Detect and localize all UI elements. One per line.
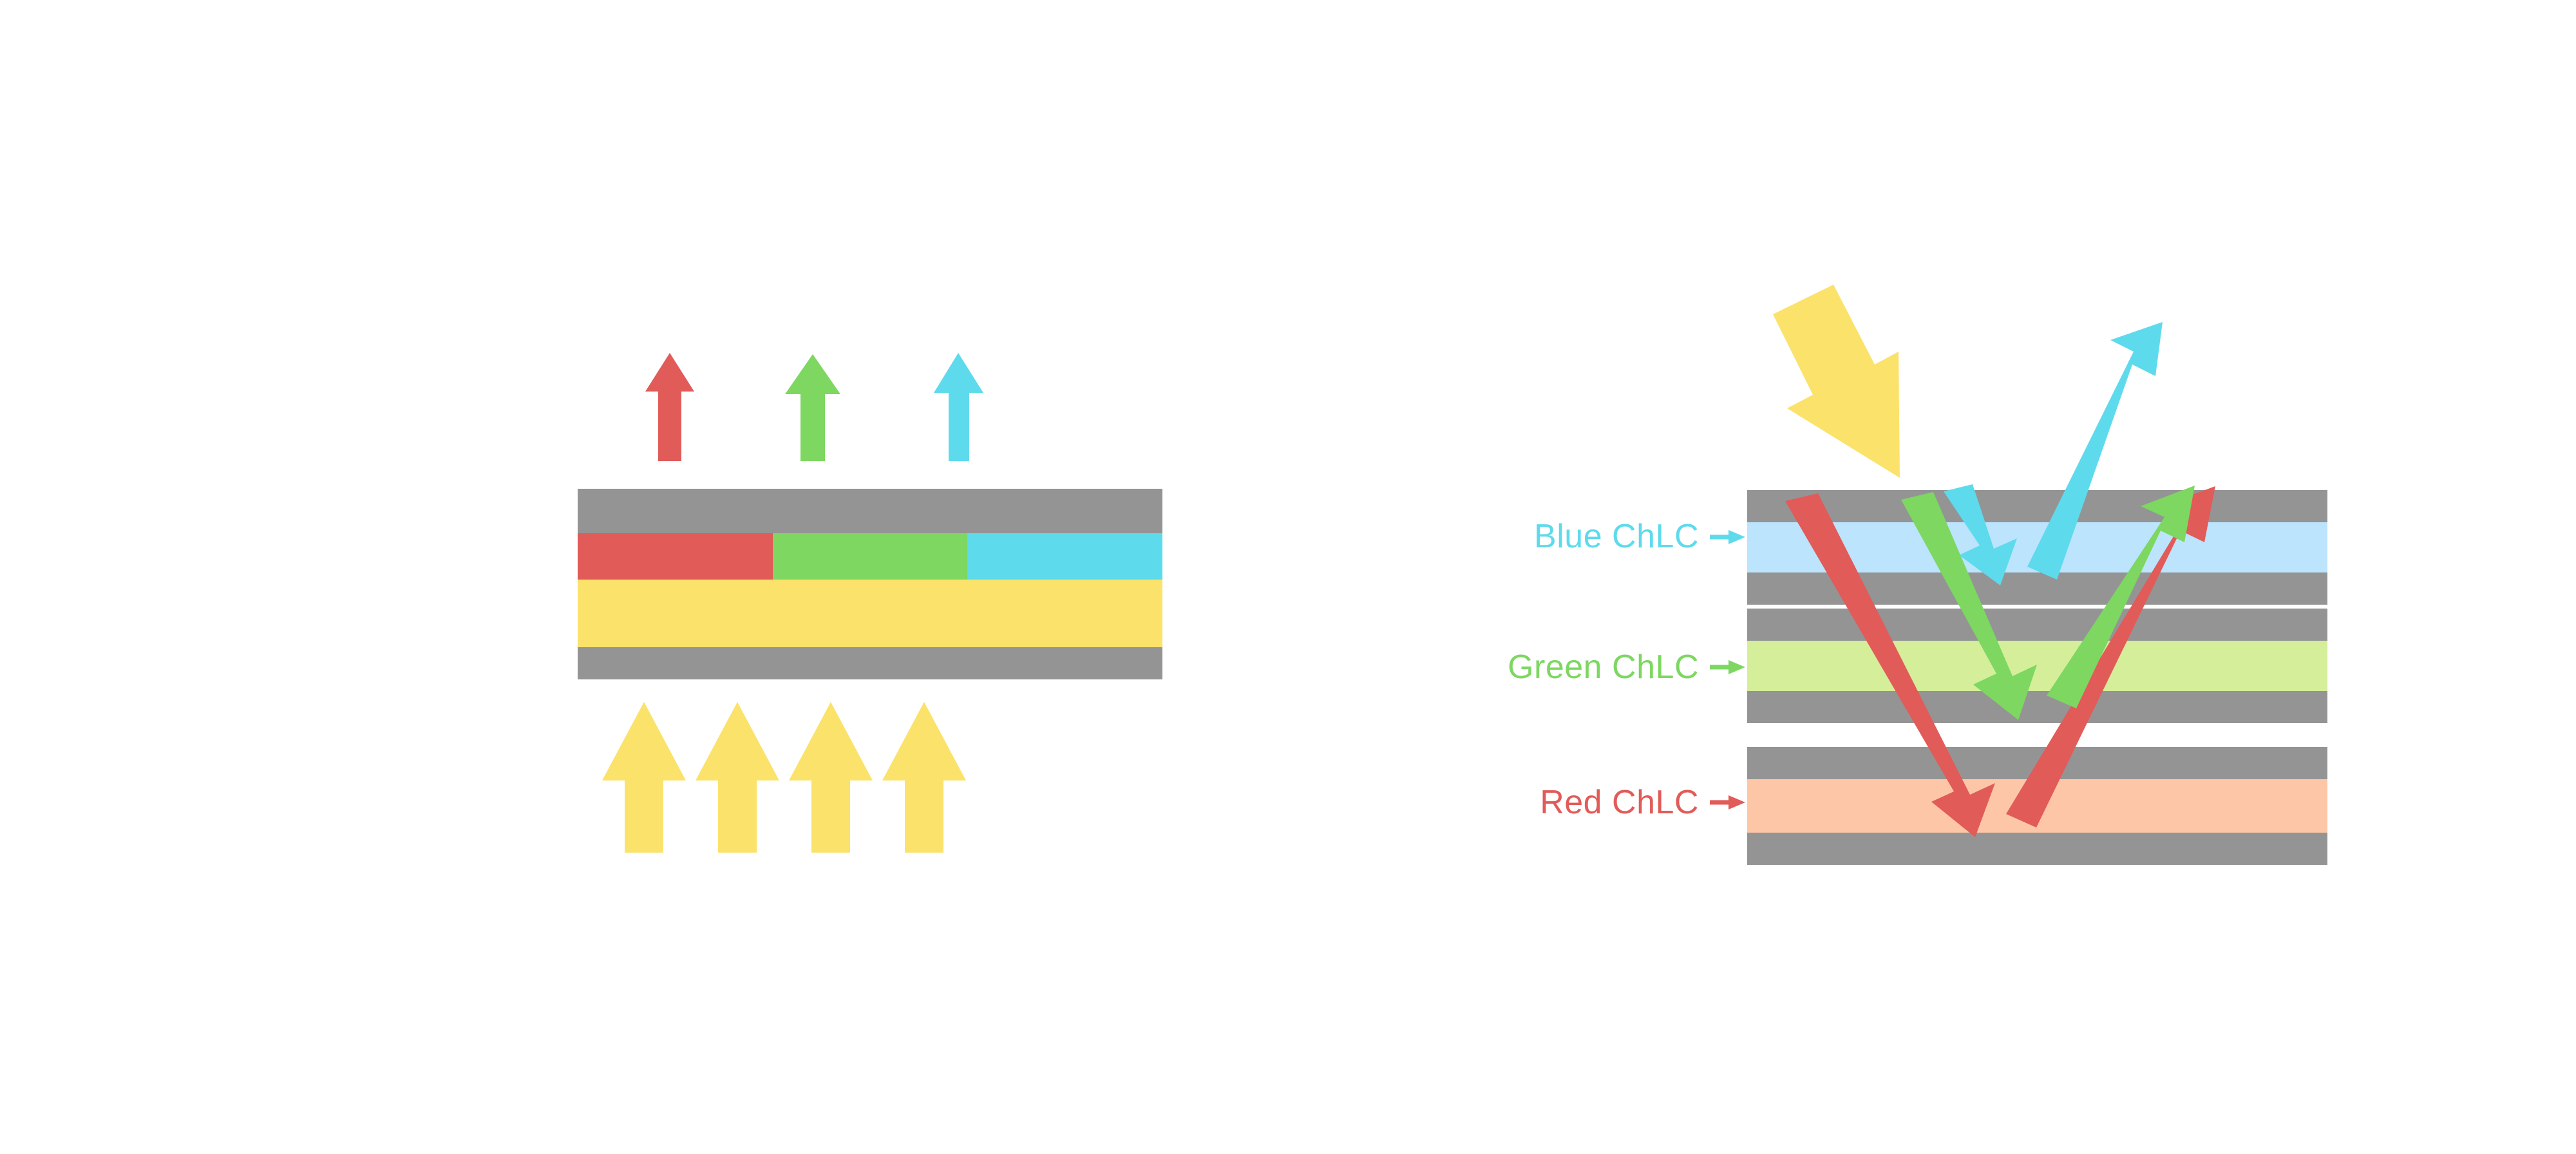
blue-chlc-label: Blue ChLC (1534, 518, 1699, 555)
bottom-electrode-layer (578, 647, 1162, 679)
green-subpixel-segment (773, 533, 967, 580)
backlight-layer (578, 580, 1162, 647)
green-bottom-electrode (1747, 691, 2327, 723)
diagram-canvas: Blue ChLC Green ChLC Red ChLC (0, 0, 2576, 1154)
cyan-subpixel-segment (967, 533, 1162, 580)
green-chlc-label: Green ChLC (1508, 648, 1699, 686)
red-chlc-label: Red ChLC (1540, 784, 1699, 821)
left-stack-layers (578, 489, 1162, 679)
red-bottom-electrode (1747, 833, 2327, 865)
top-electrode-layer (578, 489, 1162, 533)
red-subpixel-segment (578, 533, 773, 580)
chlc-display-diagram: Blue ChLC Green ChLC Red ChLC (0, 0, 2576, 1154)
green-top-electrode (1747, 609, 2327, 641)
blue-top-electrode (1747, 490, 2327, 522)
green-chlc-layer (1747, 641, 2327, 691)
